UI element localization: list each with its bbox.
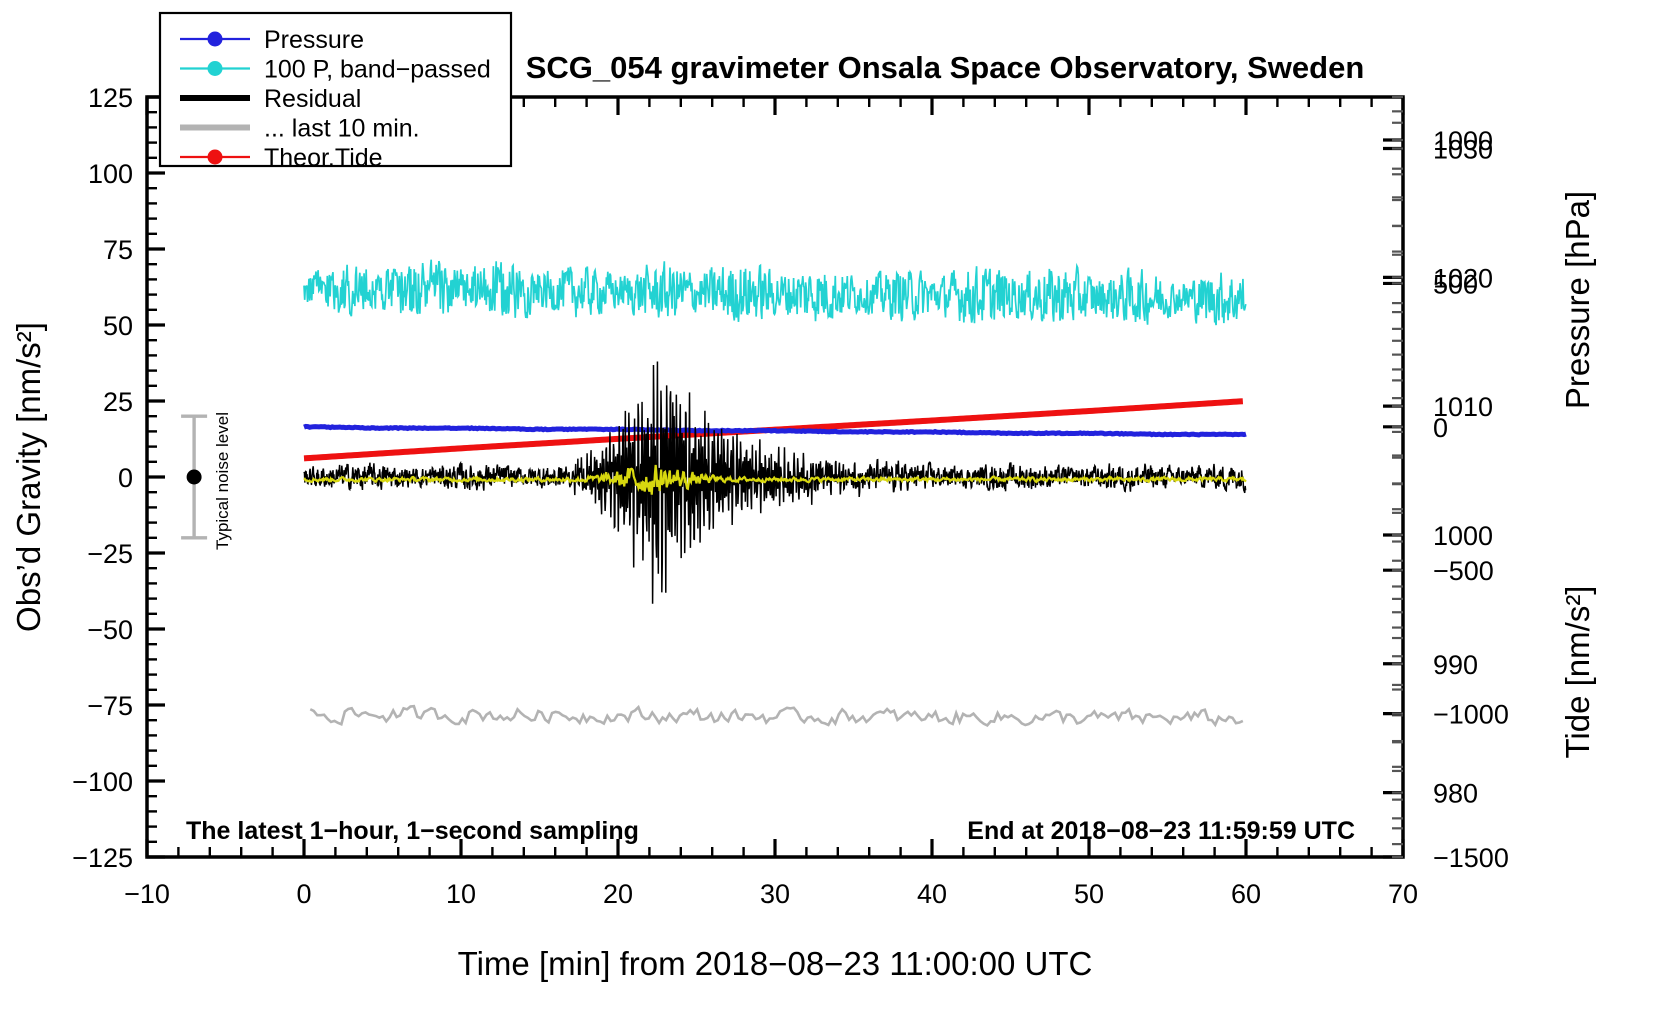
x-tick-label: 0 [296,879,311,909]
legend-label: Residual [264,85,361,113]
x-axis-title: Time [min] from 2018−08−23 11:00:00 UTC [458,945,1093,982]
y-tick-label: 0 [118,463,133,493]
legend-marker [208,32,223,47]
y-tick-label: 75 [103,235,133,265]
y-axis-tide-title: Tide [nm/s²] [1559,586,1596,759]
chart-page: −10010203040506070 1251007550250−25−50−7… [0,0,1660,1020]
legend-label: Theor.Tide [264,144,383,172]
x-tick-label: 10 [446,879,476,909]
legend-marker [208,150,223,165]
footer-left-note: The latest 1−hour, 1−second sampling [186,817,639,845]
noise-center-dot [187,470,202,485]
pressure-tick-label: 1000 [1433,521,1493,551]
legend-label: 100 P, band−passed [264,56,491,84]
y-tick-label: −125 [72,843,133,873]
x-tick-label: −10 [124,879,170,909]
tide-tick-label: 0 [1433,413,1448,443]
legend-label: ... last 10 min. [264,115,420,143]
legend-label: Pressure [264,26,364,54]
x-tick-label: 30 [760,879,790,909]
y-tick-label: 25 [103,387,133,417]
y-tick-label: 50 [103,311,133,341]
x-tick-label: 20 [603,879,633,909]
legend[interactable]: Pressure100 P, band−passedResidual... la… [160,13,511,172]
tide-tick-label: −500 [1433,556,1494,586]
x-tick-label: 70 [1388,879,1418,909]
noise-level-label: Typical noise level [213,412,232,550]
tide-tick-label: 500 [1433,269,1478,299]
y-tick-label: 100 [88,159,133,189]
tide-tick-label: −1500 [1433,843,1509,873]
x-tick-label: 60 [1231,879,1261,909]
pressure-tick-label: 980 [1433,779,1478,809]
gravimeter-chart: −10010203040506070 1251007550250−25−50−7… [0,0,1660,1020]
tide-tick-label: −1000 [1433,700,1509,730]
tide-tick-label: 1000 [1433,126,1493,156]
page-title: SCG_054 gravimeter Onsala Space Observat… [526,50,1365,85]
y-axis-pressure-title: Pressure [hPa] [1559,191,1596,409]
pressure-tick-label: 990 [1433,650,1478,680]
y-tick-label: −50 [87,615,133,645]
y-tick-label: −75 [87,691,133,721]
footer-right-note: End at 2018−08−23 11:59:59 UTC [967,817,1355,845]
y-axis-left-title: Obs’d Gravity [nm/s²] [10,322,47,632]
y-tick-label: −25 [87,539,133,569]
legend-marker [208,61,223,76]
y-tick-label: 125 [88,83,133,113]
x-tick-label: 40 [917,879,947,909]
y-tick-label: −100 [72,767,133,797]
x-tick-label: 50 [1074,879,1104,909]
